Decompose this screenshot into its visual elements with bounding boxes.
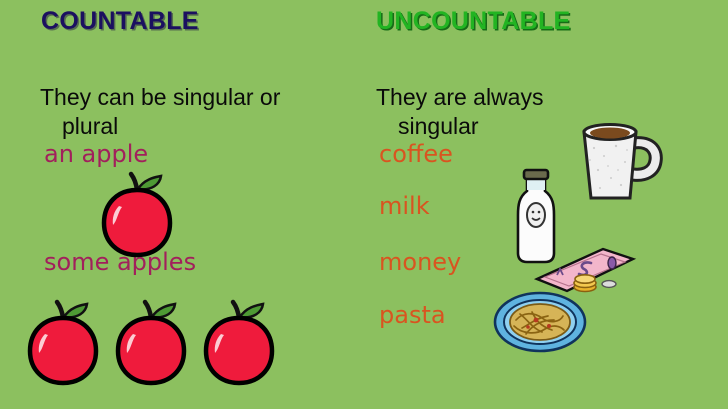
apple-icon-1 [23, 296, 99, 386]
apple-icon-single [97, 168, 173, 244]
apple-icon-3 [199, 296, 275, 386]
countable-description-line1: They can be singular or [40, 84, 280, 110]
money-icon [533, 243, 605, 281]
example-word-pasta: pasta [379, 301, 446, 329]
apple-icon-2 [111, 296, 187, 386]
slide-canvas: COUNTABLE UNCOUNTABLE They can be singul… [0, 0, 728, 409]
uncountable-column-title: UNCOUNTABLE [376, 7, 571, 36]
example-word-coffee: coffee [379, 140, 453, 168]
countable-column-title: COUNTABLE [41, 7, 199, 36]
uncountable-description-line1: They are always [376, 84, 543, 110]
pasta-plate-icon [492, 290, 560, 335]
countable-description-line2: plural [40, 112, 370, 141]
milk-bottle-icon [513, 165, 545, 237]
apple-icon-group-three [23, 296, 275, 409]
example-word-money: money [379, 248, 461, 276]
example-word-milk: milk [379, 192, 430, 220]
example-word-an-apple: an apple [44, 140, 148, 168]
coffee-mug-icon [564, 110, 638, 182]
